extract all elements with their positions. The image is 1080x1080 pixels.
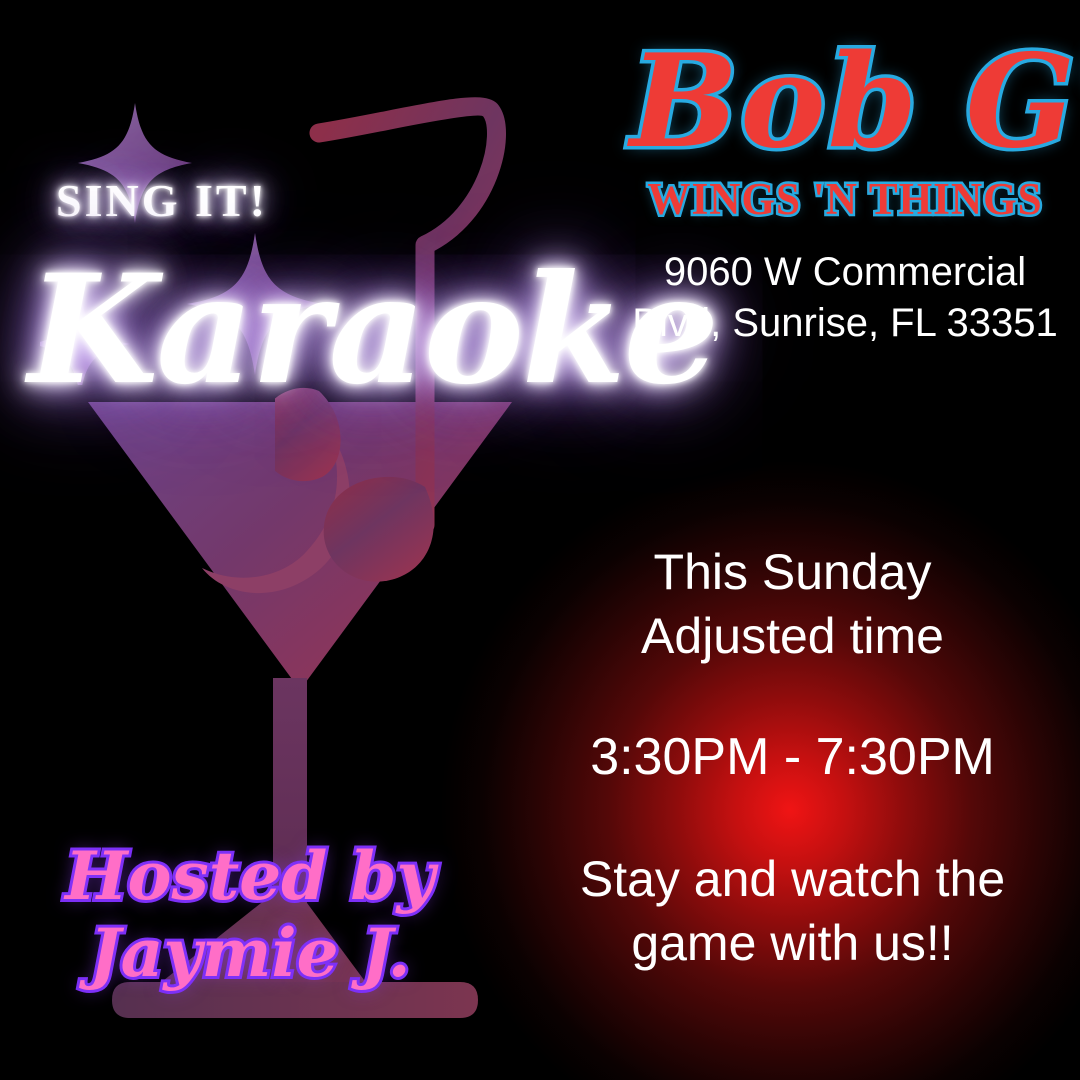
karaoke-event-flyer: SING IT! Karaoke Hosted by Jaymie J. Bob… — [0, 0, 1080, 1080]
address-line-2: Blvd, Sunrise, FL 33351 — [630, 298, 1060, 348]
brand-block: Bob G's WINGS 'N THINGS 9060 W Commercia… — [630, 40, 1060, 348]
brand-logo-name: Bob G's — [630, 40, 1060, 165]
event-time: 3:30PM - 7:30PM — [520, 724, 1065, 791]
eyebrow-sing-it: SING IT! — [56, 174, 268, 227]
host-line-1: Hosted by — [0, 838, 500, 915]
brand-tagline: WINGS 'N THINGS — [639, 173, 1052, 225]
cta-line-2: game with us!! — [520, 911, 1065, 975]
event-details: This Sunday Adjusted time 3:30PM - 7:30P… — [520, 540, 1065, 975]
event-day-line-1: This Sunday — [520, 540, 1065, 604]
page-title-karaoke: Karaoke — [28, 255, 717, 405]
event-time-block: 3:30PM - 7:30PM — [520, 724, 1065, 791]
venue-address: 9060 W Commercial Blvd, Sunrise, FL 3335… — [630, 247, 1060, 348]
event-cta-block: Stay and watch the game with us!! — [520, 847, 1065, 975]
cta-line-1: Stay and watch the — [520, 847, 1065, 911]
event-day-line-2: Adjusted time — [520, 604, 1065, 668]
event-day-block: This Sunday Adjusted time — [520, 540, 1065, 668]
host-line-2: Jaymie J. — [0, 915, 500, 992]
address-line-1: 9060 W Commercial — [630, 247, 1060, 297]
host-credit: Hosted by Jaymie J. — [0, 838, 500, 991]
